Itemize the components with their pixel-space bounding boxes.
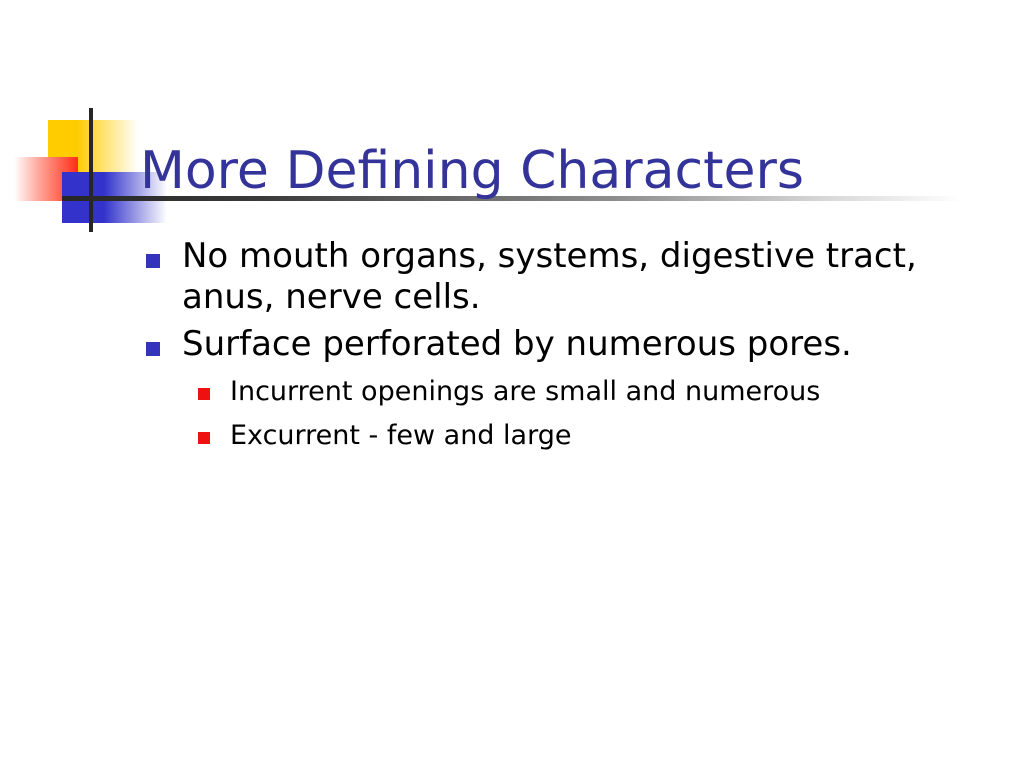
- blue-square-bullet-icon: [146, 342, 160, 356]
- bullet-text: Excurrent - few and large: [230, 419, 830, 453]
- bullet-item-level2: Incurrent openings are small and numerou…: [140, 375, 1000, 409]
- red-square-bullet-icon: [198, 432, 210, 444]
- bullet-text: Incurrent openings are small and numerou…: [230, 375, 830, 409]
- bullet-text: No mouth organs, systems, digestive trac…: [182, 236, 942, 318]
- bullet-item-level1: Surface perforated by numerous pores.: [140, 324, 1000, 365]
- presentation-slide: More Defining Characters No mouth organs…: [0, 0, 1024, 768]
- yellow-square-shape: [48, 120, 138, 172]
- red-square-shape: [14, 157, 78, 201]
- bullet-item-level2: Excurrent - few and large: [140, 419, 1000, 453]
- blue-square-bullet-icon: [146, 254, 160, 268]
- slide-title: More Defining Characters: [140, 141, 1000, 201]
- bullet-text: Surface perforated by numerous pores.: [182, 324, 942, 365]
- red-square-bullet-icon: [198, 388, 210, 400]
- vertical-rule: [89, 108, 93, 232]
- slide-decoration-blends: [0, 0, 1024, 260]
- slide-body: No mouth organs, systems, digestive trac…: [140, 236, 1000, 453]
- bullet-item-level1: No mouth organs, systems, digestive trac…: [140, 236, 1000, 318]
